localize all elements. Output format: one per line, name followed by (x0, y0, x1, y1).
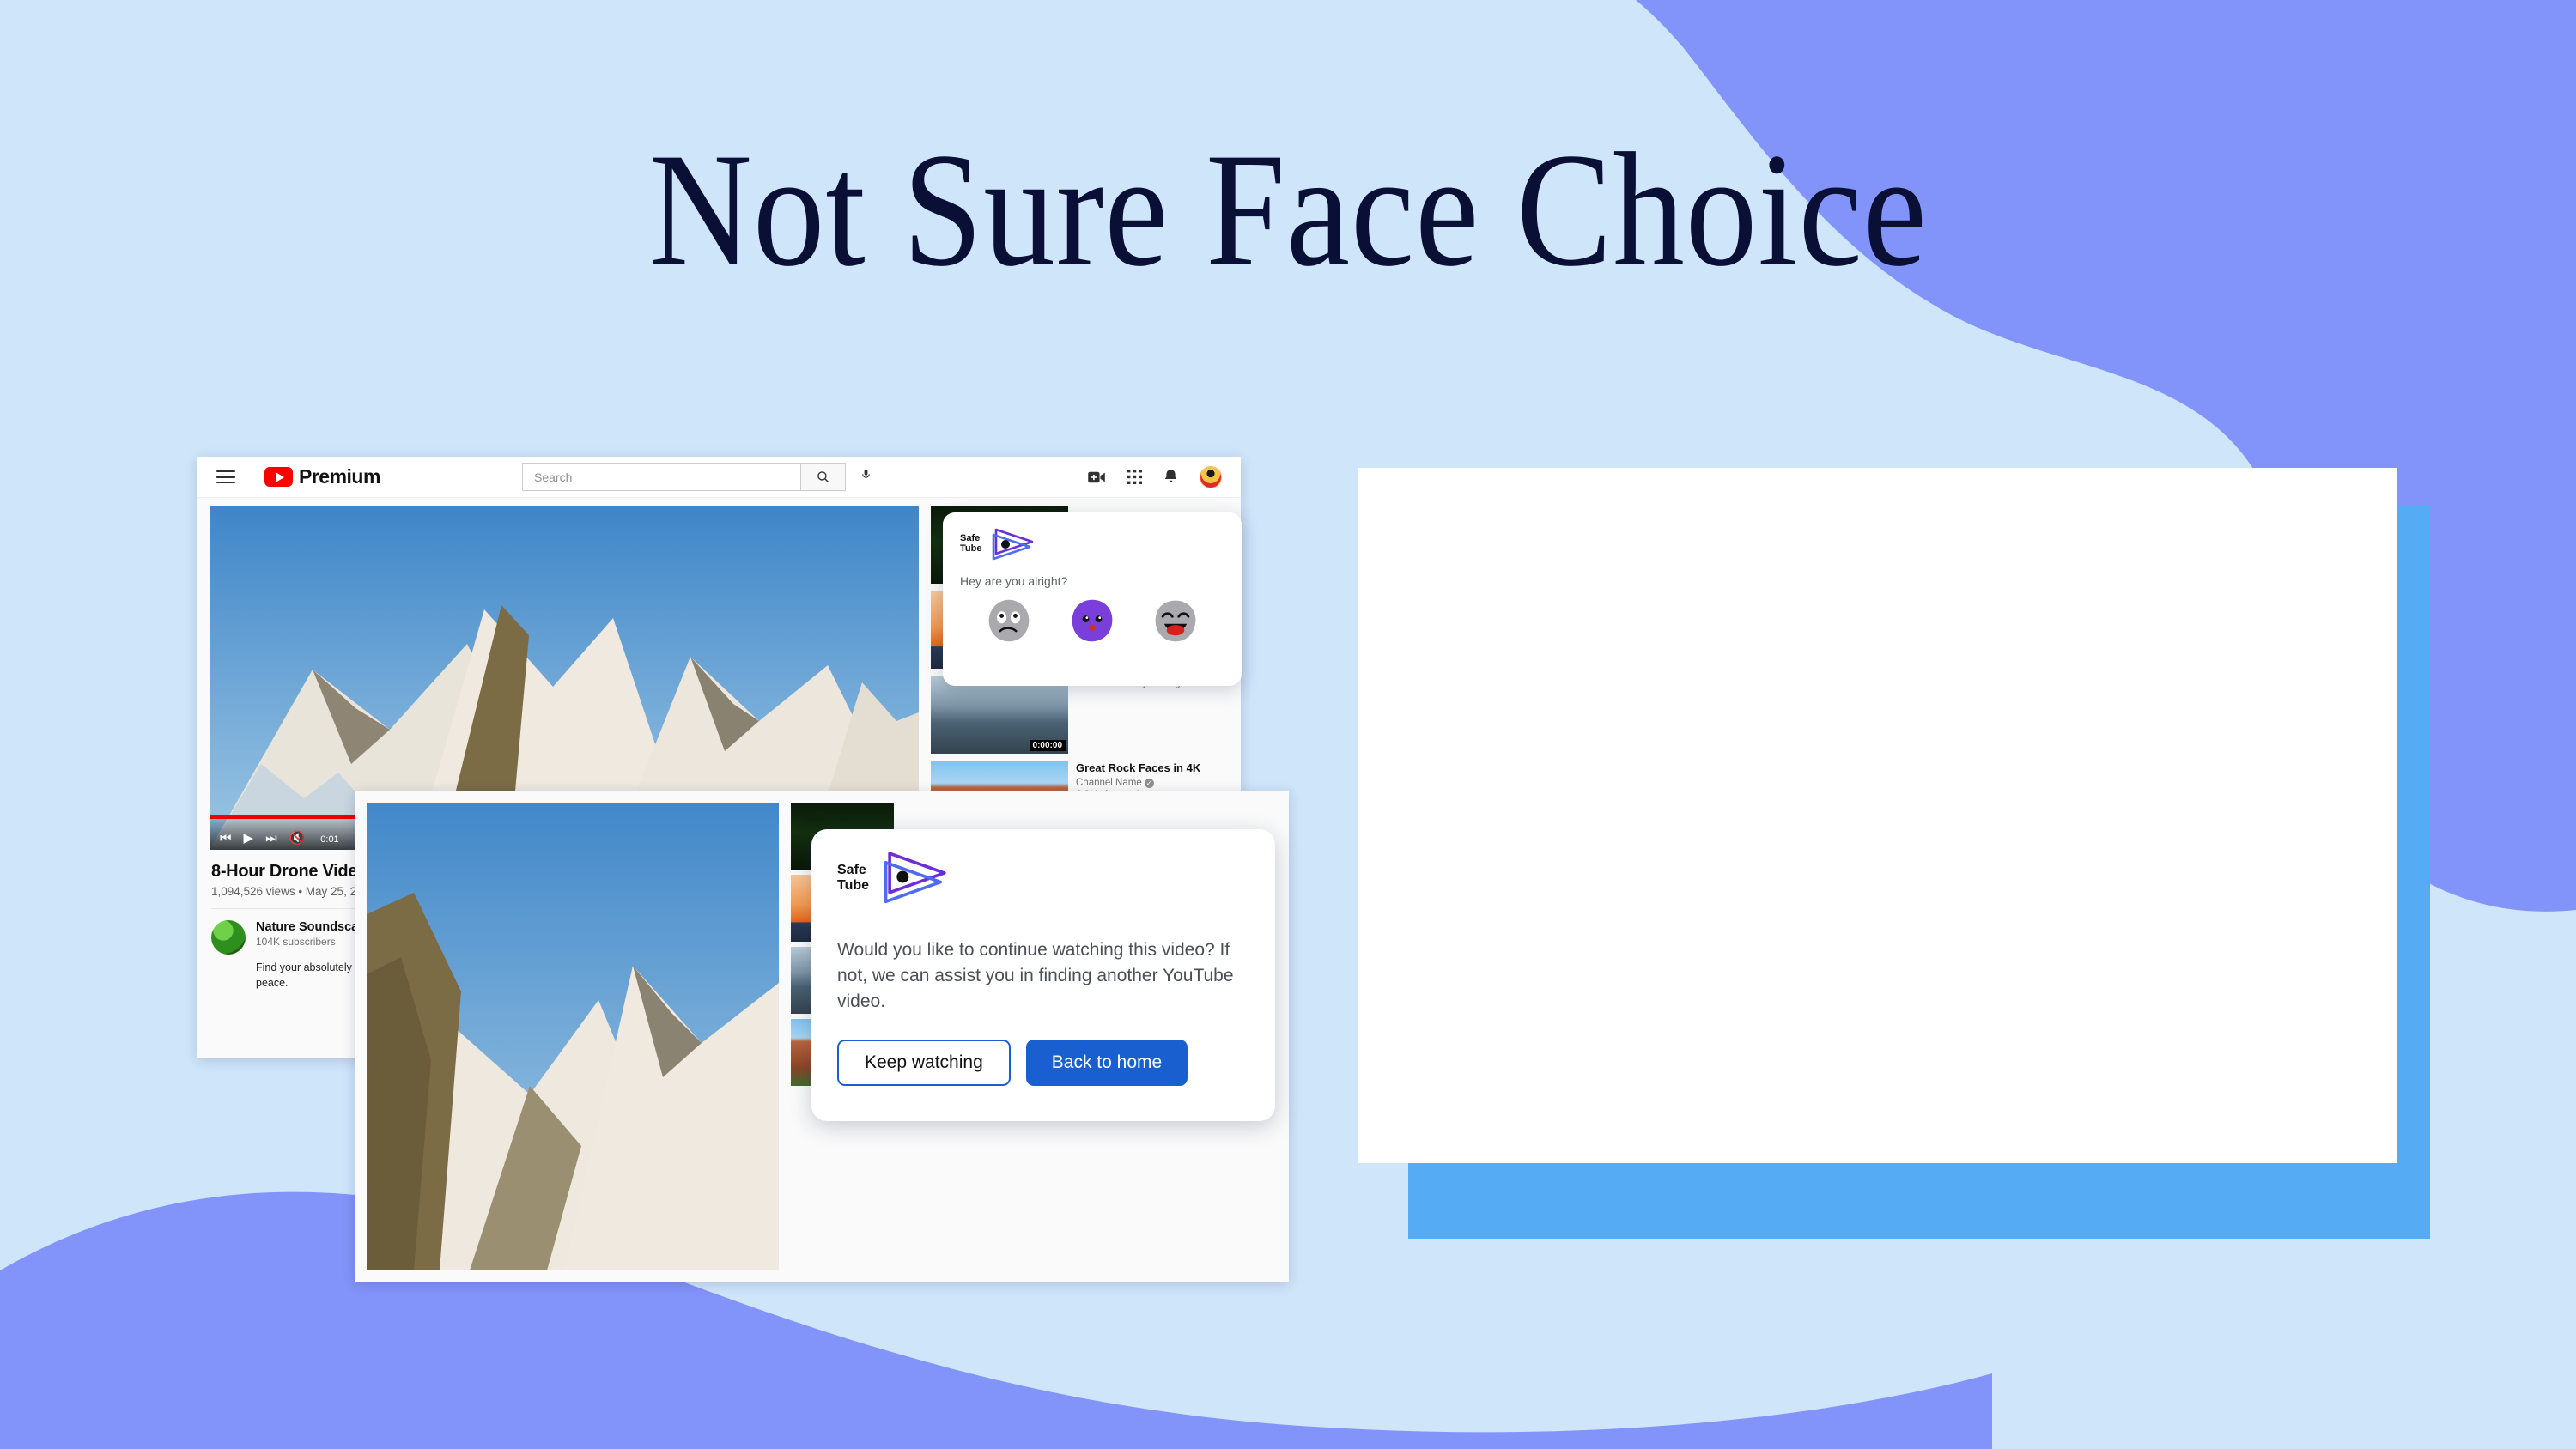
search-placeholder: Search (534, 470, 572, 484)
safetube-play-icon (989, 524, 1039, 564)
search-icon (816, 470, 830, 484)
safetube-mood-popup: Safe Tube Hey are you alright? (943, 512, 1242, 686)
safetube-logo-text: Safe Tube (960, 534, 981, 554)
youtube-logo[interactable]: Premium (264, 465, 380, 488)
youtube-play-icon (264, 467, 293, 487)
happy-face[interactable] (1151, 597, 1200, 645)
video-thumbnail: 0:00:00 (931, 676, 1068, 754)
microphone-icon (860, 466, 872, 483)
bell-icon[interactable] (1163, 469, 1178, 485)
hamburger-icon[interactable] (216, 470, 235, 484)
sad-face[interactable] (985, 597, 1033, 645)
next-icon[interactable]: ⏭ (265, 832, 277, 845)
back-to-home-button[interactable]: Back to home (1026, 1040, 1188, 1086)
youtube-header: Premium Search (197, 457, 1241, 498)
safetube-question: Hey are you alright? (960, 574, 1224, 588)
dialog-actions: Keep watching Back to home (837, 1040, 1249, 1086)
channel-label: Channel Name (1076, 778, 1142, 788)
safetube-continue-dialog: Safe Tube Would you like to continue wat… (811, 829, 1275, 1121)
not-sure-face[interactable] (1068, 597, 1116, 645)
header-actions (1087, 466, 1222, 488)
info-card: • Selecting the not sure face • SafeTube… (1358, 468, 2397, 1163)
list-item[interactable]: 0:00:00 6.3M views • 4 years ago (931, 676, 1214, 754)
avatar[interactable] (1200, 466, 1222, 488)
muted-volume-icon[interactable]: 🔇 (289, 832, 306, 845)
safetube-logo-text: Safe Tube (837, 863, 869, 893)
video-player[interactable] (367, 803, 779, 1270)
apps-grid-icon[interactable] (1127, 470, 1142, 484)
premium-label: Premium (299, 465, 380, 488)
video-channel: Channel Name ✓ (1076, 778, 1200, 788)
search-area: Search (522, 463, 872, 491)
video-duration: 0:00:00 (1030, 740, 1066, 751)
video-title: Great Rock Faces in 4K (1076, 761, 1200, 775)
player-time: 0:01 (320, 834, 338, 845)
dialog-message: Would you like to continue watching this… (837, 937, 1249, 1014)
logo-line-2: Tube (960, 544, 981, 555)
safetube-play-icon (879, 848, 955, 908)
logo-line-1: Safe (837, 863, 869, 878)
page-title: Not Sure Face Choice (155, 129, 2421, 292)
safetube-logo: Safe Tube (837, 848, 1249, 908)
safetube-logo: Safe Tube (960, 524, 1224, 564)
keep-watching-button[interactable]: Keep watching (837, 1040, 1011, 1086)
previous-icon[interactable]: ⏮ (220, 832, 232, 845)
search-button[interactable] (801, 463, 846, 491)
play-icon[interactable]: ▶ (244, 832, 254, 845)
verified-badge-icon: ✓ (1145, 779, 1154, 788)
video-still-art (367, 803, 779, 1270)
channel-avatar[interactable] (211, 920, 246, 955)
microphone-button[interactable] (860, 466, 872, 488)
search-input[interactable]: Search (522, 463, 801, 491)
mood-face-options (960, 597, 1224, 645)
video-create-icon[interactable] (1087, 470, 1106, 484)
logo-line-2: Tube (837, 878, 869, 894)
